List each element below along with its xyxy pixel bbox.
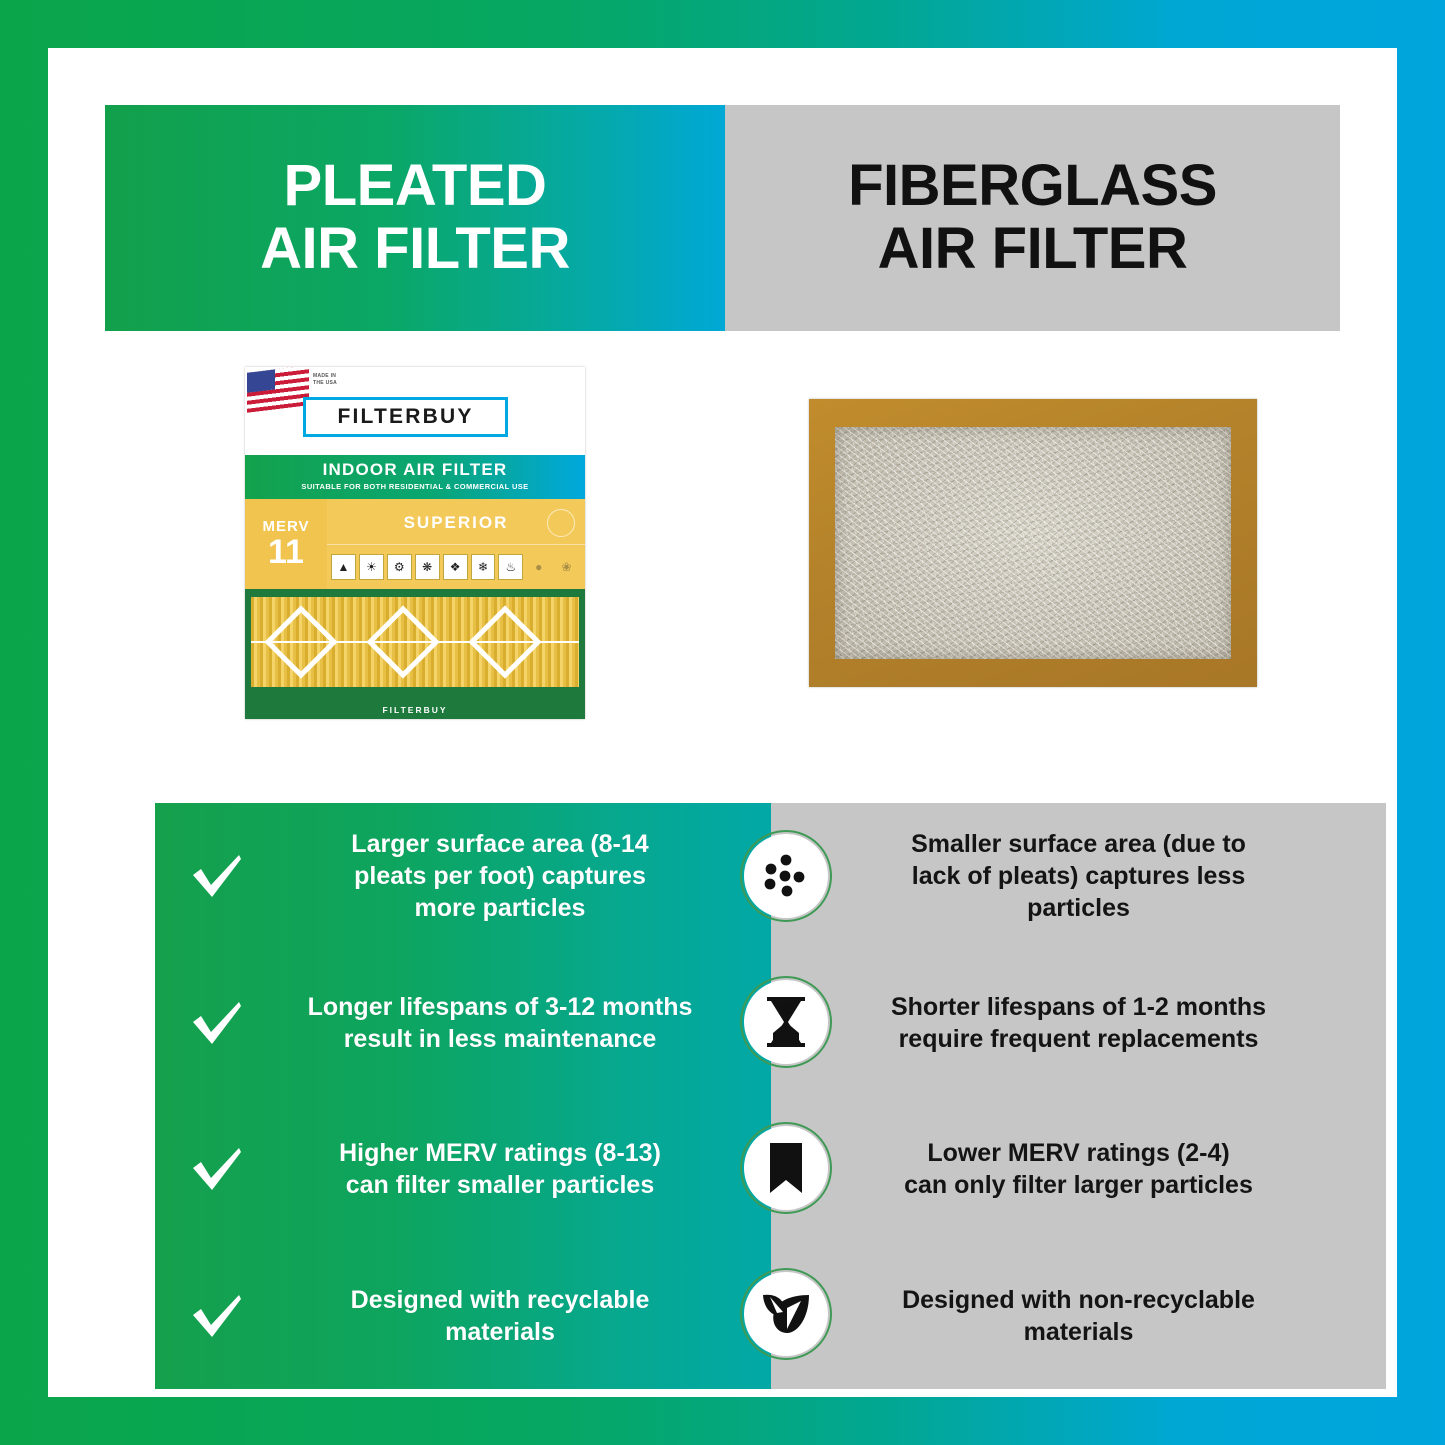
band-secondary-label: SUITABLE FOR BOTH RESIDENTIAL & COMMERCI… [245, 482, 585, 491]
header-pleated: PLEATED AIR FILTER [105, 105, 725, 331]
pleat-media [251, 597, 579, 687]
fiberglass-drawback-text: Shorter lifespans of 1-2 months require … [891, 991, 1266, 1055]
product-image-row: MADE IN THE USA FILTERBUY INDOOR AIR FIL… [105, 331, 1340, 754]
checkmark-icon [185, 992, 247, 1054]
pet-dander-icon: ❄ [471, 554, 496, 580]
ul-certification-icon [547, 509, 575, 537]
support-diamond [366, 605, 439, 678]
bookmark-icon [740, 1122, 832, 1214]
insect-icon: ☀ [359, 554, 384, 580]
support-diamond [264, 605, 337, 678]
pleated-media-area: FILTERBUY [245, 589, 585, 719]
fiberglass-mesh [835, 427, 1231, 659]
table-row: Designed with non-recyclable materials [771, 1243, 1386, 1390]
table-row: Longer lifespans of 3-12 months result i… [155, 950, 771, 1097]
fiberglass-filter-image [809, 399, 1257, 687]
table-row: Designed with recyclable materials [155, 1243, 771, 1390]
hourglass-icon [740, 976, 832, 1068]
header-fiberglass: FIBERGLASS AIR FILTER [725, 105, 1340, 331]
box-bottom-brand: FILTERBUY [245, 705, 585, 715]
pleated-benefit-text: Larger surface area (8-14 pleats per foo… [247, 828, 753, 924]
feature-icon-strip: ▲ ☀ ⚙ ❋ ❖ ❄ ♨ ● ❀ [331, 549, 579, 585]
pleated-product-cell: MADE IN THE USA FILTERBUY INDOOR AIR FIL… [105, 331, 725, 754]
pleated-benefit-text: Higher MERV ratings (8-13) can filter sm… [247, 1137, 753, 1201]
bacteria-icon: ⚙ [387, 554, 412, 580]
fiberglass-drawback-text: Smaller surface area (due to lack of ple… [911, 828, 1246, 924]
merv-rating-block: MERV 11 [245, 499, 327, 589]
brand-logo-box: FILTERBUY [303, 397, 508, 437]
fiberglass-product-cell [725, 331, 1340, 754]
checkmark-icon [185, 1138, 247, 1200]
table-row: Smaller surface area (due to lack of ple… [771, 803, 1386, 950]
indoor-air-filter-band: INDOOR AIR FILTER SUITABLE FOR BOTH RESI… [245, 455, 585, 499]
header-row: PLEATED AIR FILTER FIBERGLASS AIR FILTER [105, 105, 1340, 331]
header-pleated-title: PLEATED AIR FILTER [260, 155, 570, 280]
dust-icon: ▲ [331, 554, 356, 580]
icon-disc [744, 1126, 828, 1210]
support-diamond [468, 605, 541, 678]
merv-band: MERV 11 SUPERIOR ▲ ☀ ⚙ ❋ ❖ ❄ ♨ ● ❀ [245, 499, 585, 589]
fiberglass-drawback-text: Designed with non-recyclable materials [902, 1284, 1255, 1348]
faded-icon-1: ● [526, 554, 551, 580]
icon-disc [744, 1272, 828, 1356]
brand-name: FILTERBUY [337, 405, 473, 429]
pleated-benefit-text: Designed with recyclable materials [247, 1284, 753, 1348]
table-row: Higher MERV ratings (8-13) can filter sm… [155, 1096, 771, 1243]
faded-icon-2: ❀ [554, 554, 579, 580]
checkmark-icon [185, 1285, 247, 1347]
pollen-icon: ❋ [415, 554, 440, 580]
table-row: Larger surface area (8-14 pleats per foo… [155, 803, 771, 950]
comparison-column-pleated: Larger surface area (8-14 pleats per foo… [155, 803, 771, 1389]
comparison-column-fiberglass: Smaller surface area (due to lack of ple… [771, 803, 1386, 1389]
icon-disc [744, 980, 828, 1064]
band-primary-label: INDOOR AIR FILTER [245, 460, 585, 480]
usa-flag-icon [247, 367, 309, 413]
mold-icon: ❖ [443, 554, 468, 580]
infographic-card: PLEATED AIR FILTER FIBERGLASS AIR FILTER… [48, 48, 1397, 1397]
table-row: Lower MERV ratings (2-4) can only filter… [771, 1096, 1386, 1243]
smoke-icon: ♨ [498, 554, 523, 580]
header-fiberglass-title: FIBERGLASS AIR FILTER [848, 155, 1217, 280]
made-in-usa-label: MADE IN THE USA [313, 373, 337, 388]
merv-value: 11 [268, 535, 304, 569]
pleated-benefit-text: Longer lifespans of 3-12 months result i… [247, 991, 753, 1055]
table-row: Shorter lifespans of 1-2 months require … [771, 950, 1386, 1097]
fiberglass-drawback-text: Lower MERV ratings (2-4) can only filter… [904, 1137, 1253, 1201]
icon-disc [744, 834, 828, 918]
checkmark-icon [185, 845, 247, 907]
leaves-icon [740, 1268, 832, 1360]
particles-icon [740, 830, 832, 922]
filterbuy-box-image: MADE IN THE USA FILTERBUY INDOOR AIR FIL… [245, 367, 585, 719]
